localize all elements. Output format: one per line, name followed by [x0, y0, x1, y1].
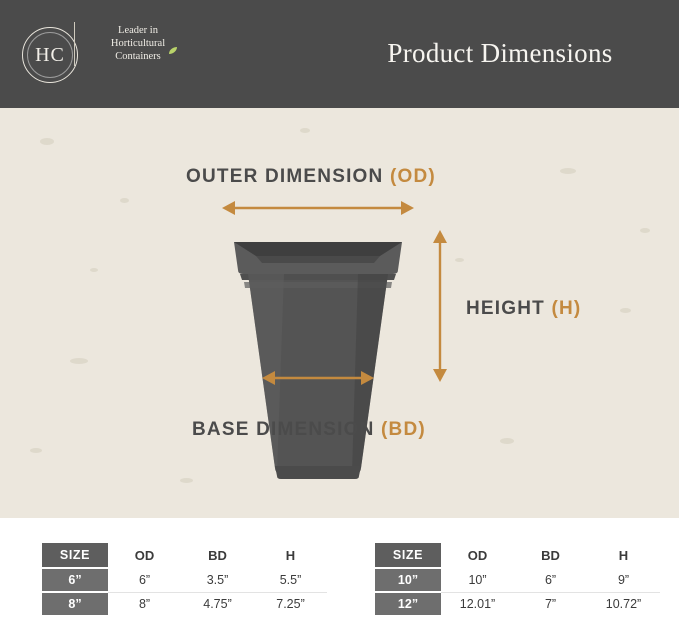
height-text: HEIGHT [466, 298, 551, 319]
table-row: 12” 12.01” 7” 10.72” [375, 592, 660, 616]
cell-bd: 6” [514, 568, 587, 592]
table-header-h: H [254, 543, 327, 568]
cell-size: 8” [42, 592, 108, 616]
table-header-row: SIZE OD BD H [375, 543, 660, 568]
table-header-size: SIZE [42, 543, 108, 568]
texture-speck [120, 198, 129, 203]
cell-h: 10.72” [587, 592, 660, 616]
cell-h: 5.5” [254, 568, 327, 592]
table-row: 8” 8” 4.75” 7.25” [42, 592, 327, 616]
cell-od: 8” [108, 592, 181, 616]
base-dimension-abbrev: (BD) [381, 419, 426, 440]
outer-dimension-text: OUTER DIMENSION [186, 166, 390, 187]
cell-size: 10” [375, 568, 441, 592]
texture-speck [300, 128, 310, 133]
table-row: 10” 10” 6” 9” [375, 568, 660, 592]
dimensions-table-left: SIZE OD BD H 6” 6” 3.5” 5.5” 8” 8” 4.75”… [42, 543, 327, 617]
header-bar: HC Leader in Horticultural Containers Pr… [0, 0, 679, 108]
page-title: Product Dimensions [340, 38, 660, 69]
height-abbrev: (H) [551, 298, 581, 319]
cell-h: 9” [587, 568, 660, 592]
cell-bd: 4.75” [181, 592, 254, 616]
table-row: 6” 6” 3.5” 5.5” [42, 568, 327, 592]
diagram-area: OUTER DIMENSION (OD) [0, 108, 679, 518]
table-header-bd: BD [181, 543, 254, 568]
cell-h: 7.25” [254, 592, 327, 616]
texture-speck [500, 438, 514, 444]
product-dimensions-infographic: HC Leader in Horticultural Containers Pr… [0, 0, 679, 636]
cell-bd: 3.5” [181, 568, 254, 592]
texture-speck [40, 138, 54, 145]
cell-size: 6” [42, 568, 108, 592]
cell-od: 10” [441, 568, 514, 592]
logo-tagline-line1: Leader in [86, 24, 190, 37]
cell-od: 12.01” [441, 592, 514, 616]
logo-monogram: HC [35, 44, 65, 67]
texture-speck [70, 358, 88, 364]
height-label: HEIGHT (H) [466, 298, 581, 320]
logo-tagline: Leader in Horticultural Containers [86, 24, 190, 63]
cell-size: 12” [375, 592, 441, 616]
base-dimension-text: BASE DIMENSION [192, 419, 381, 440]
texture-speck [455, 258, 464, 262]
base-dimension-arrow [262, 366, 374, 390]
dimensions-table-right: SIZE OD BD H 10” 10” 6” 9” 12” 12.01” 7”… [375, 543, 660, 617]
height-arrow [428, 230, 452, 382]
texture-speck [30, 448, 42, 453]
logo-divider [74, 22, 75, 66]
logo-circle-icon: HC [22, 27, 78, 83]
outer-dimension-abbrev: (OD) [390, 166, 436, 187]
cell-bd: 7” [514, 592, 587, 616]
cell-od: 6” [108, 568, 181, 592]
table-header-od: OD [108, 543, 181, 568]
leaf-icon [168, 47, 178, 55]
square-planter-illustration [228, 230, 408, 490]
texture-speck [620, 308, 631, 313]
table-header-h: H [587, 543, 660, 568]
outer-dimension-label: OUTER DIMENSION (OD) [186, 166, 436, 188]
texture-speck [640, 228, 650, 233]
texture-speck [560, 168, 576, 174]
texture-speck [180, 478, 193, 483]
table-header-row: SIZE OD BD H [42, 543, 327, 568]
outer-dimension-arrow [222, 196, 414, 220]
table-header-size: SIZE [375, 543, 441, 568]
table-header-bd: BD [514, 543, 587, 568]
base-dimension-label: BASE DIMENSION (BD) [192, 419, 426, 441]
texture-speck [90, 268, 98, 272]
table-header-od: OD [441, 543, 514, 568]
